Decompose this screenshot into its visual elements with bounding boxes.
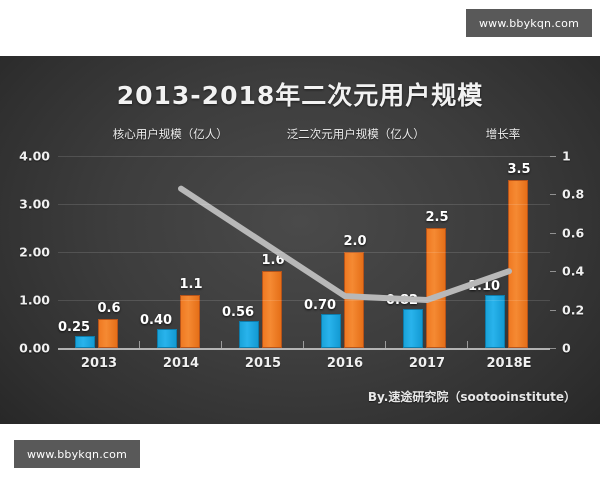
bar-broad-users[interactable] (426, 228, 446, 348)
y-axis-right-tickmark (550, 348, 556, 349)
bar-value-core-users: 0.56 (222, 305, 254, 320)
x-axis-label: 2015 (222, 356, 304, 371)
y-axis-left-tick: 0.00 (19, 341, 50, 356)
x-axis-label: 2017 (386, 356, 468, 371)
y-axis-right-tickmark (550, 156, 556, 157)
bar-core-users[interactable] (321, 314, 341, 348)
legend-item-growth-rate[interactable]: 增长率 (451, 126, 521, 142)
bar-core-users[interactable] (75, 336, 95, 348)
bar-value-broad-users: 1.1 (179, 277, 202, 292)
bar-core-users[interactable] (485, 295, 505, 348)
watermark-top: www.bbykqn.com (466, 9, 592, 37)
chart-title: 2013-2018年二次元用户规模 (0, 76, 600, 112)
y-axis-right-tick: 0.8 (562, 187, 584, 202)
bar-value-broad-users: 3.5 (507, 162, 530, 177)
x-axis-labels: 201320142015201620172018E (58, 356, 550, 371)
chart-legend: 核心用户规模（亿人） 泛二次元用户规模（亿人） 增长率 (0, 126, 600, 142)
gridline (58, 252, 550, 253)
watermark-bottom: www.bbykqn.com (14, 440, 140, 468)
bar-value-core-users: 0.40 (140, 313, 172, 328)
bar-value-broad-users: 1.6 (261, 253, 284, 268)
gridline (58, 300, 550, 301)
bar-value-core-users: 1.10 (468, 279, 500, 294)
legend-item-broad-users[interactable]: 泛二次元用户规模（亿人） (254, 126, 425, 142)
source-note: By.速途研究院（sootooinstitute） (368, 388, 576, 405)
x-axis-label: 2013 (58, 356, 140, 371)
bar-broad-users[interactable] (508, 180, 528, 348)
legend-label-core-users: 核心用户规模（亿人） (113, 126, 228, 142)
legend-line-gray (451, 132, 481, 137)
bar-value-broad-users: 0.6 (97, 301, 120, 316)
legend-label-broad-users: 泛二次元用户规模（亿人） (287, 126, 425, 142)
gridline (58, 156, 550, 157)
y-axis-right-tickmark (550, 271, 556, 272)
x-axis-label: 2018E (468, 356, 550, 371)
y-axis-right-tick: 0.4 (562, 264, 584, 279)
y-axis-right-tick: 0.6 (562, 225, 584, 240)
legend-swatch-blue (80, 129, 108, 139)
plot-area: 0.250.60.401.10.561.60.702.00.822.51.103… (58, 156, 550, 348)
y-axis-right-tickmark (550, 194, 556, 195)
axis-baseline (58, 348, 550, 350)
bar-broad-users[interactable] (98, 319, 118, 348)
legend-label-growth-rate: 增长率 (486, 126, 521, 142)
bar-core-users[interactable] (403, 309, 423, 348)
y-axis-left-tick: 3.00 (19, 197, 50, 212)
y-axis-right-tick: 1 (562, 149, 571, 164)
y-axis-right-tick: 0 (562, 341, 571, 356)
bar-value-core-users: 0.25 (58, 320, 90, 335)
y-axis-right-tickmark (550, 233, 556, 234)
legend-item-core-users[interactable]: 核心用户规模（亿人） (80, 126, 228, 142)
x-axis-label: 2016 (304, 356, 386, 371)
y-axis-right-tickmark (550, 310, 556, 311)
bar-broad-users[interactable] (180, 295, 200, 348)
bar-broad-users[interactable] (262, 271, 282, 348)
y-axis-left-tick: 1.00 (19, 293, 50, 308)
y-axis-right-tick: 0.2 (562, 302, 584, 317)
legend-swatch-orange (254, 129, 282, 139)
bar-value-broad-users: 2.5 (425, 210, 448, 225)
bar-core-users[interactable] (239, 321, 259, 348)
y-axis-left-tick: 2.00 (19, 245, 50, 260)
bar-core-users[interactable] (157, 329, 177, 348)
gridline (58, 204, 550, 205)
y-axis-left-tick: 4.00 (19, 149, 50, 164)
chart-panel: 2013-2018年二次元用户规模 核心用户规模（亿人） 泛二次元用户规模（亿人… (0, 56, 600, 424)
x-axis-label: 2014 (140, 356, 222, 371)
bar-value-broad-users: 2.0 (343, 234, 366, 249)
